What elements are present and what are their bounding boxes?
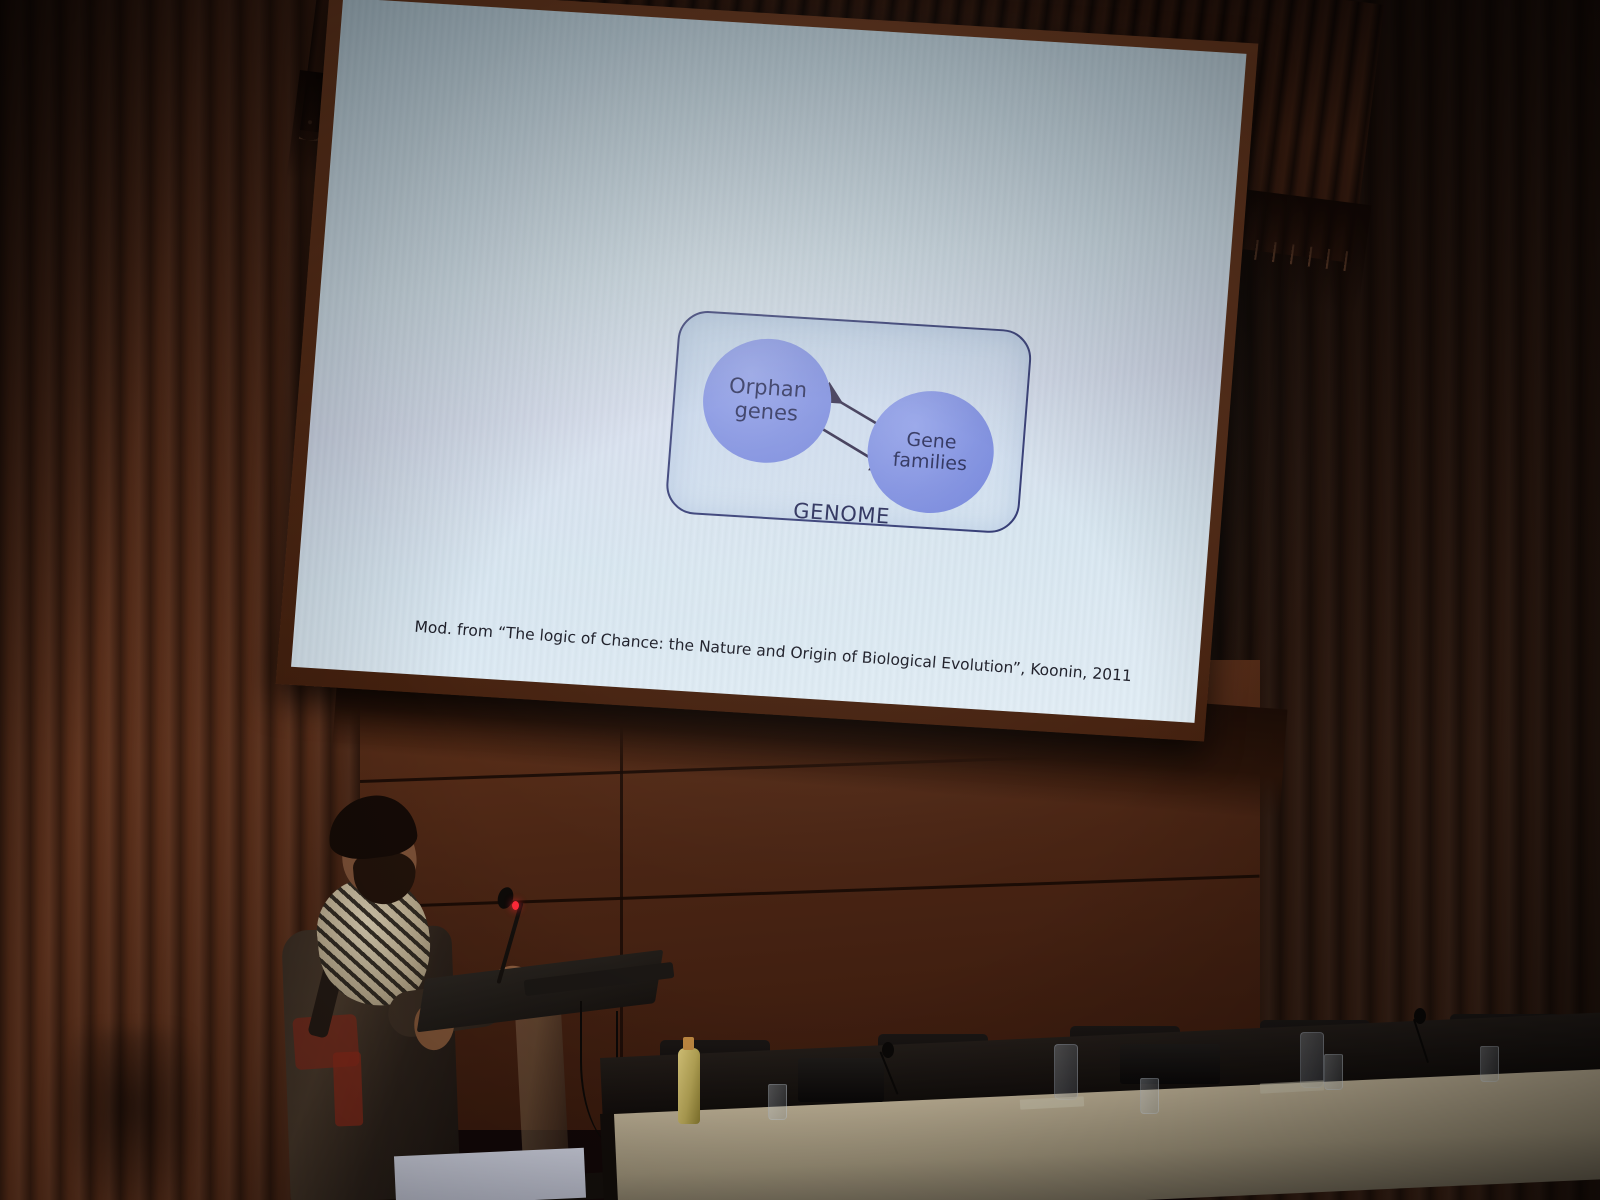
table-microphone-head [882,1042,894,1058]
water-bottle-cap [683,1037,694,1050]
projection-screen: Orphan genes Gene families GENOME Mod. f… [291,0,1246,723]
genome-container: Orphan genes Gene families GENOME [664,309,1033,534]
slide: Orphan genes Gene families GENOME Mod. f… [291,0,1246,723]
node-orphan-genes-line2: genes [734,398,799,426]
slide-citation: Mod. from “The logic of Chance: the Natu… [414,618,1204,690]
laptop [1120,1044,1220,1084]
drinking-glass [1480,1046,1499,1082]
stage-front-panel [394,1148,586,1200]
panel-table [600,1022,1600,1200]
drinking-glass [768,1084,787,1120]
node-gene-families-line2: families [892,449,968,476]
laptop [798,1058,884,1102]
speaker-shadow [50,1030,210,1200]
speaker-jacket-stripe [333,1052,364,1127]
carafe [1054,1044,1078,1100]
microphone-led-indicator [512,901,519,910]
drinking-glass [1324,1054,1343,1090]
water-bottle [678,1048,700,1124]
presentation-photo: Orphan genes Gene families GENOME Mod. f… [0,0,1600,1200]
table-microphone-head [1414,1008,1426,1024]
projection-screen-frame: Orphan genes Gene families GENOME Mod. f… [276,0,1259,741]
drinking-glass [1140,1078,1159,1114]
